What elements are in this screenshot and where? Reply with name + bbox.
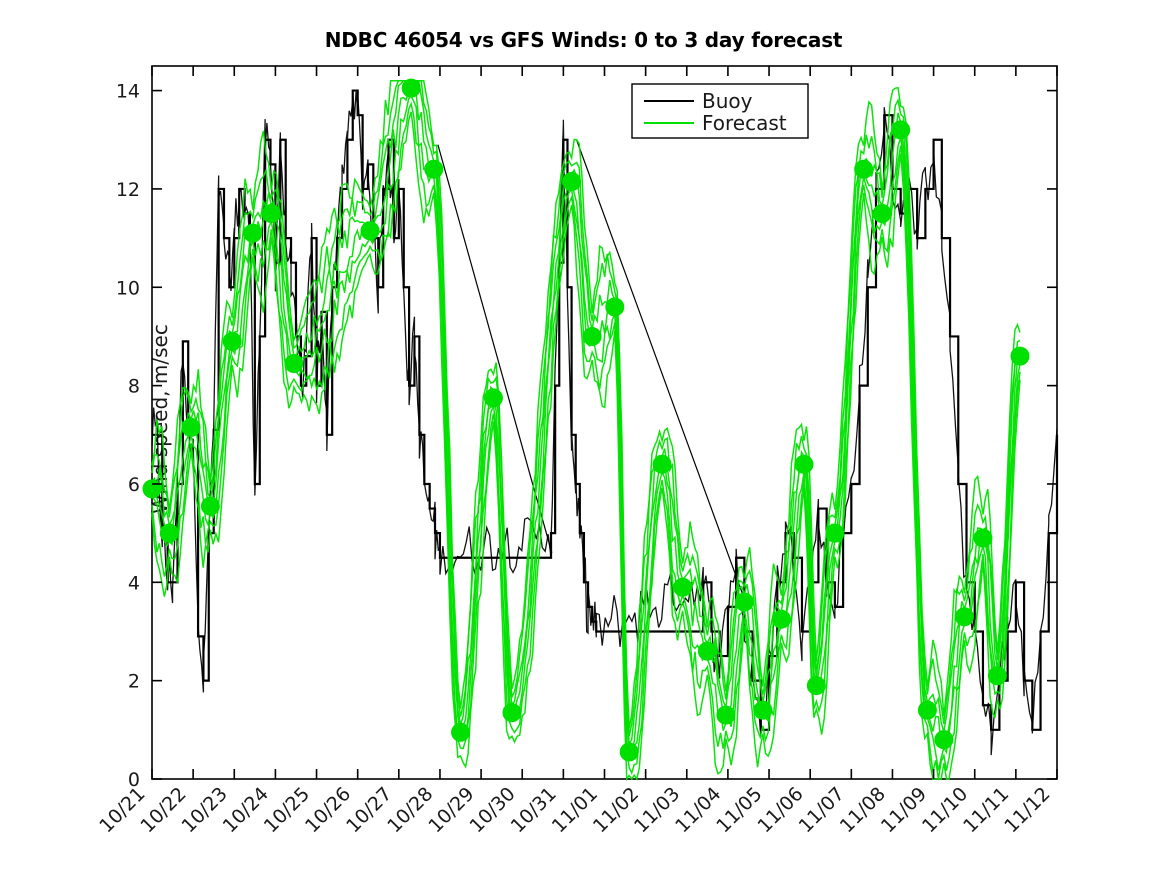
forecast-marker — [935, 731, 953, 749]
y-tick-label: 6 — [128, 474, 140, 496]
forecast-marker — [826, 524, 844, 542]
legend: BuoyForecast — [632, 84, 808, 138]
y-tick-label: 2 — [128, 671, 140, 693]
chart-figure: NDBC 46054 vs GFS Winds: 0 to 3 day fore… — [0, 0, 1167, 875]
legend-label-buoy: Buoy — [702, 89, 753, 113]
forecast-marker — [606, 298, 624, 316]
forecast-marker — [160, 524, 178, 542]
x-tick-label: 10/30 — [465, 783, 519, 837]
forecast-marker — [855, 160, 873, 178]
forecast-marker — [974, 529, 992, 547]
x-tick-label: 10/25 — [260, 783, 314, 837]
forecast-marker — [735, 593, 753, 611]
x-tick-label: 10/22 — [136, 783, 190, 837]
forecast-marker — [795, 455, 813, 473]
forecast-marker — [143, 480, 161, 498]
forecast-marker — [918, 701, 936, 719]
forecast-marker — [620, 743, 638, 761]
x-tick-label: 10/28 — [383, 783, 437, 837]
x-tick-label: 11/11 — [959, 783, 1013, 837]
x-tick-label: 11/12 — [1000, 783, 1054, 837]
forecast-marker — [698, 642, 716, 660]
legend-label-forecast: Forecast — [702, 111, 787, 135]
forecast-marker — [503, 704, 521, 722]
forecast-marker — [754, 701, 772, 719]
forecast-marker — [1011, 347, 1029, 365]
y-tick-label: 12 — [116, 179, 140, 201]
forecast-marker — [807, 677, 825, 695]
x-tick-label: 11/07 — [795, 783, 849, 837]
x-tick-label: 11/09 — [877, 783, 931, 837]
x-tick-label: 11/04 — [671, 783, 725, 837]
x-tick-label: 10/23 — [178, 783, 232, 837]
x-tick-label: 10/31 — [507, 783, 561, 837]
x-tick-label: 10/21 — [95, 783, 149, 837]
forecast-marker — [452, 723, 470, 741]
forecast-marker — [583, 327, 601, 345]
forecast-marker — [262, 205, 280, 223]
forecast-marker — [674, 578, 692, 596]
forecast-marker — [955, 608, 973, 626]
x-tick-label: 11/06 — [753, 783, 807, 837]
forecast-marker — [182, 418, 200, 436]
forecast-marker — [653, 455, 671, 473]
y-tick-label: 10 — [116, 277, 140, 299]
x-tick-label: 10/26 — [301, 783, 355, 837]
forecast-marker — [425, 160, 443, 178]
x-tick-label: 11/10 — [918, 783, 972, 837]
forecast-marker — [223, 332, 241, 350]
forecast-marker — [201, 497, 219, 515]
forecast-marker — [717, 706, 735, 724]
x-tick-label: 10/24 — [219, 783, 273, 837]
forecast-marker — [988, 667, 1006, 685]
forecast-marker — [772, 610, 790, 628]
x-tick-label: 11/02 — [589, 783, 643, 837]
forecast-marker — [892, 121, 910, 139]
x-tick-label: 10/27 — [342, 783, 396, 837]
forecast-marker — [873, 205, 891, 223]
forecast-marker — [484, 389, 502, 407]
forecast-marker — [361, 222, 379, 240]
x-tick-label: 11/03 — [630, 783, 684, 837]
x-tick-label: 11/05 — [712, 783, 766, 837]
x-tick-label: 11/01 — [548, 783, 602, 837]
forecast-marker — [285, 354, 303, 372]
forecast-marker — [244, 224, 262, 242]
y-tick-label: 4 — [128, 572, 140, 594]
plot-canvas: 02468101214 10/2110/2210/2310/2410/2510/… — [0, 0, 1167, 875]
x-tick-label: 11/08 — [836, 783, 890, 837]
forecast-marker — [402, 79, 420, 97]
y-tick-label: 14 — [116, 81, 140, 103]
x-tick-label: 10/29 — [424, 783, 478, 837]
forecast-marker — [563, 173, 581, 191]
forecast-member-line — [152, 96, 1020, 770]
y-tick-label: 8 — [128, 376, 140, 398]
